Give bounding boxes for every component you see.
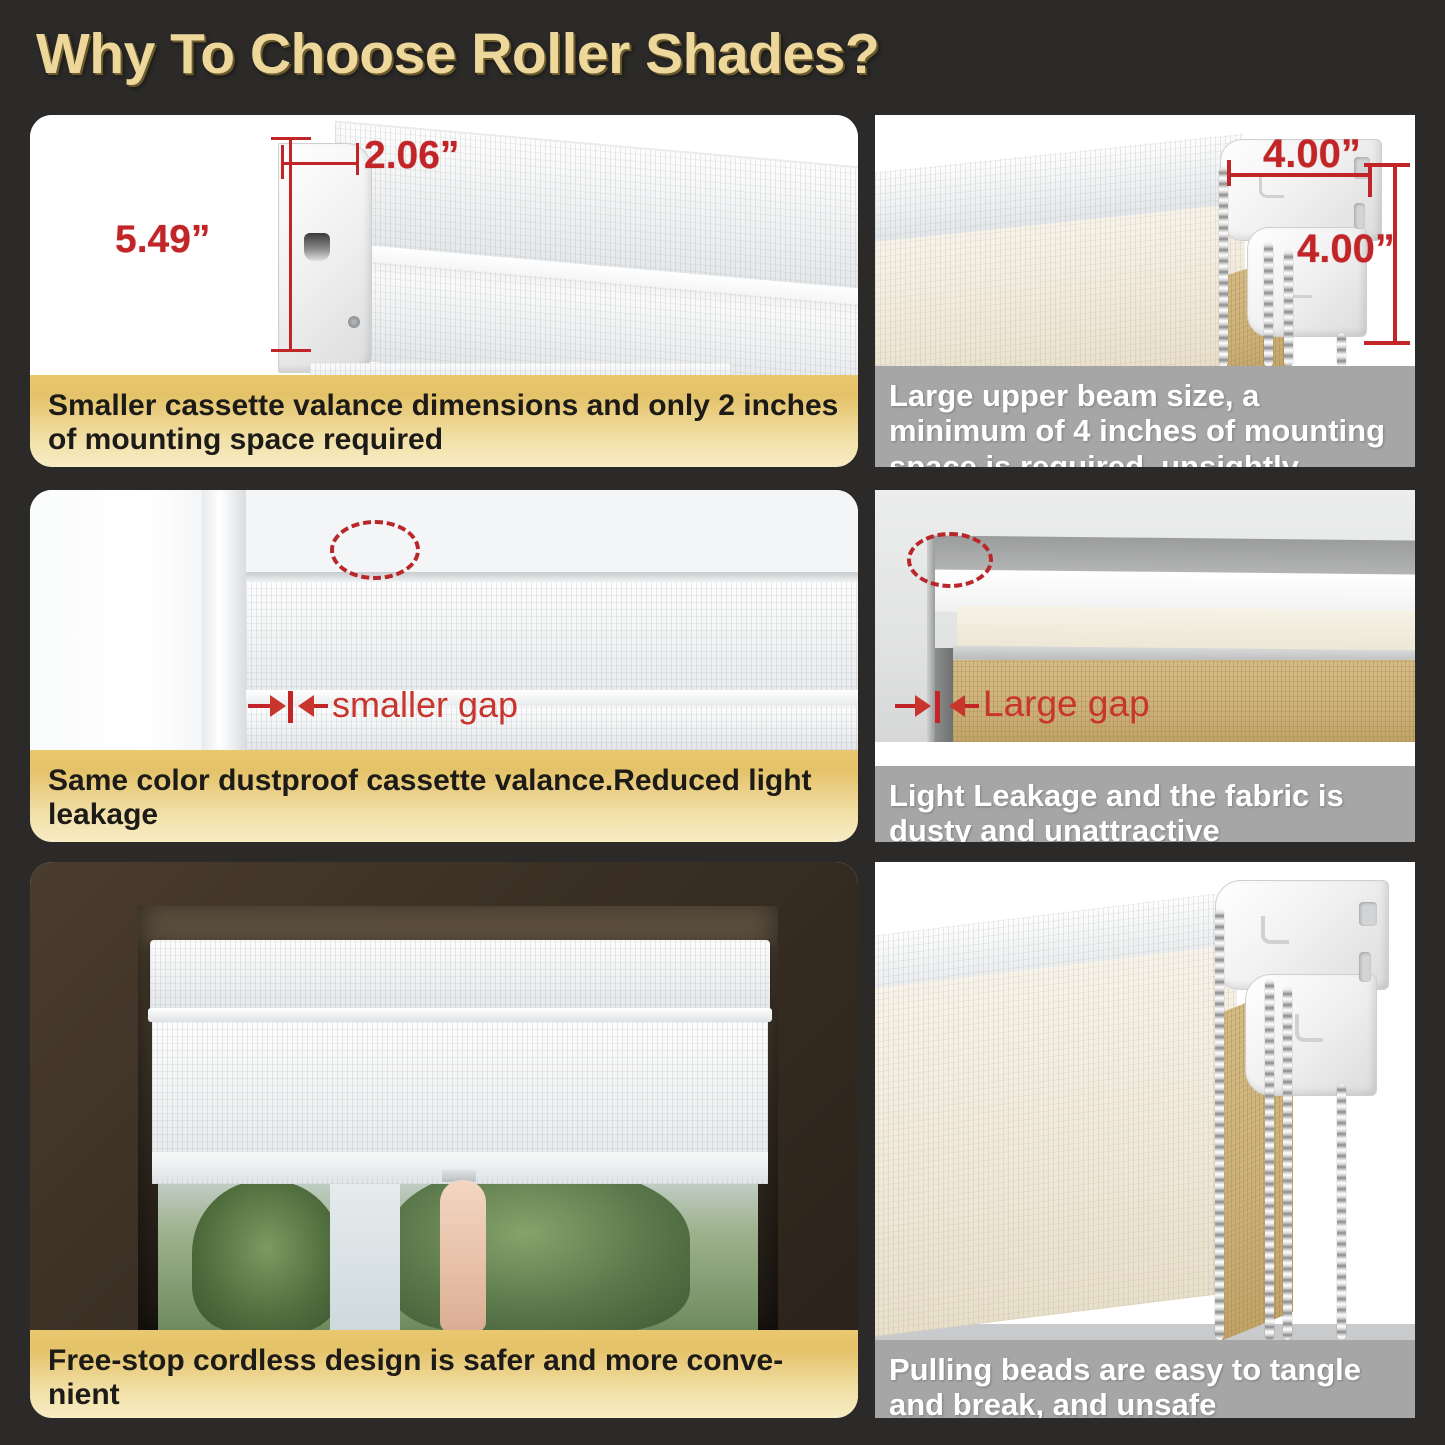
beam-width-tick-right — [1368, 167, 1372, 197]
panel-pulling-beads-unsafe: Pulling beads are easy to tangle and bre… — [875, 862, 1415, 1418]
beam-height-tick-bottom — [1364, 341, 1410, 345]
hand-pulling-shade — [440, 1180, 486, 1332]
gap-arrow-shaft-right — [965, 704, 979, 708]
beam-height-dimension-label: 4.00” — [1297, 227, 1395, 272]
bead-chain-3[interactable] — [1283, 988, 1292, 1340]
gap-arrow-shaft-right — [314, 704, 328, 708]
bracket-slot-upper-icon — [1359, 902, 1377, 926]
gap-arrow-shaft-left — [248, 704, 272, 708]
height-dimension-line — [289, 137, 292, 352]
bead-chain-2[interactable] — [1265, 980, 1274, 1340]
tree-foliage-left — [192, 1180, 342, 1332]
gap-arrow-shaft-left — [895, 704, 917, 708]
panel-caption: Same color dustproof cassette valance.Re… — [30, 750, 858, 842]
width-dimension-label: 2.06” — [364, 134, 459, 178]
gap-highlight-ellipse — [330, 520, 420, 580]
panel-dustproof-cassette-valance: smaller gap Same color dustproof cassett… — [30, 490, 858, 842]
cassette-valance-photo: 2.06” 5.49” — [30, 115, 858, 377]
end-cap-screw-icon — [348, 316, 360, 328]
panel-caption: Large upper beam size, a minimum of 4 in… — [875, 366, 1415, 467]
bead-chain-4[interactable] — [1337, 333, 1346, 367]
panel-light-leakage-dusty-fabric: Large gap Light Leakage and the fabric i… — [875, 490, 1415, 842]
gap-arrow-head-right — [298, 695, 314, 717]
bracket-slot-lower-icon — [1354, 203, 1365, 229]
end-cap-slot-icon — [304, 233, 330, 261]
panel-caption: Pulling beads are easy to tangle and bre… — [875, 1340, 1415, 1418]
infographic-root: Why To Choose Roller Shades? 2.06” 5.49” — [0, 0, 1445, 1445]
cassette-headrail — [150, 940, 770, 1012]
width-dimension-line — [281, 162, 359, 165]
bead-chain-1[interactable] — [1219, 167, 1228, 367]
height-dimension-tick-top — [271, 137, 311, 140]
bead-chain-2[interactable] — [1264, 243, 1273, 367]
sky-patch — [330, 1164, 400, 1332]
cordless-shade-room-photo — [30, 862, 858, 1332]
height-dimension-label: 5.49” — [115, 218, 210, 262]
beam-height-tick-top — [1364, 163, 1410, 167]
gap-marker-bar — [935, 691, 940, 723]
height-dimension-tick-bottom — [271, 349, 311, 352]
bracket-hook-upper-icon — [1261, 916, 1289, 944]
panel-caption: Free-stop cordless design is safer and m… — [30, 1330, 858, 1418]
gap-marker-bar — [288, 691, 293, 723]
gap-arrow-head-right — [949, 695, 965, 717]
bracket-slot-lower-icon — [1359, 952, 1371, 982]
width-dimension-tick-left — [281, 145, 284, 179]
beam-width-tick-left — [1227, 160, 1231, 186]
large-beam-photo: 4.00” 4.00” — [875, 115, 1415, 367]
panel-caption: Smaller cassette valance dimensions and … — [30, 375, 858, 467]
gap-highlight-ellipse — [907, 532, 993, 588]
pulling-beads-photo — [875, 862, 1415, 1340]
headrail-lip — [148, 1008, 772, 1022]
shade-fabric-cream — [875, 944, 1237, 1338]
panel-caption: Light Leakage and the fabric is dusty an… — [875, 766, 1415, 842]
tree-foliage-right — [390, 1168, 690, 1332]
gap-arrow-head-left — [915, 695, 931, 717]
large-gap-annotation: Large gap — [875, 686, 1415, 726]
smaller-gap-annotation: smaller gap — [30, 686, 858, 726]
width-dimension-tick-right — [356, 143, 359, 175]
bracket-hook-lower-icon — [1295, 1014, 1323, 1042]
bead-chain-3[interactable] — [1284, 251, 1293, 367]
panel-cassette-valance-dimensions: 2.06” 5.49” Smaller cassette valance dim… — [30, 115, 858, 467]
bead-chain-1[interactable] — [1215, 910, 1224, 1340]
large-gap-label: Large gap — [983, 683, 1150, 725]
page-title: Why To Choose Roller Shades? — [36, 14, 1036, 94]
smaller-gap-label: smaller gap — [332, 684, 518, 726]
panel-large-upper-beam: 4.00” 4.00” Large upper beam size, a min… — [875, 115, 1415, 467]
valance-top-edge — [246, 572, 858, 582]
panel-free-stop-cordless-design: Free-stop cordless design is safer and m… — [30, 862, 858, 1418]
beam-width-dimension-label: 4.00” — [1263, 132, 1361, 177]
gap-arrow-head-left — [270, 695, 286, 717]
bead-chain-4[interactable] — [1337, 1084, 1346, 1340]
